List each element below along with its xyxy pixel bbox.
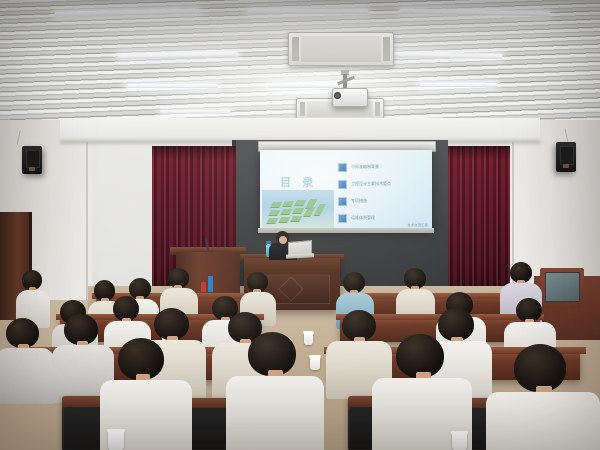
list-item-label: 专项措施 [351, 198, 367, 204]
ceiling-soffit [60, 118, 540, 142]
ac-cassette-far [288, 32, 394, 66]
lectern-logo [200, 276, 217, 292]
list-item: 工程设计主要技术要点 [338, 177, 430, 191]
paper-cup [452, 432, 467, 450]
paper-cup [108, 430, 124, 450]
wall-speaker-left [22, 146, 42, 174]
bullet-icon [338, 163, 347, 172]
logo-bar-red [201, 282, 206, 292]
bullet-icon [338, 197, 347, 206]
slide-footer: 技术交流汇报 [408, 223, 428, 227]
projector-lens-icon [334, 92, 341, 99]
wall-speaker-right [556, 142, 576, 172]
list-item-label: 工程设计主要技术要点 [351, 181, 391, 187]
presenter-face [279, 236, 287, 244]
paper-cup [310, 356, 320, 370]
crt-monitor-screen [545, 272, 580, 302]
list-item-label: 运维体系管理 [351, 215, 375, 221]
bullet-icon [338, 180, 347, 189]
logo-bar-blue [208, 276, 213, 292]
bullet-icon [338, 214, 347, 223]
speaker-bracket-left [17, 131, 35, 148]
slide-agenda-list: 与标准编制背景 工程设计主要技术要点 专项措施 运维体系管理 [338, 160, 430, 228]
list-item: 专项措施 [338, 194, 430, 208]
slide-artwork [262, 190, 334, 228]
paper-cup [304, 332, 313, 345]
crt-monitor-stand [556, 306, 568, 311]
list-item-label: 与标准编制背景 [351, 164, 379, 170]
conference-room-photo: 目 录 与标准编制背景 工程设计主要技术要点 专项措施 运维体系管理 [0, 0, 600, 450]
list-item: 与标准编制背景 [338, 160, 430, 174]
curtain-right [448, 146, 510, 292]
projection-screen: 目 录 与标准编制背景 工程设计主要技术要点 专项措施 运维体系管理 [260, 150, 432, 230]
slide-title: 目 录 [280, 174, 317, 190]
